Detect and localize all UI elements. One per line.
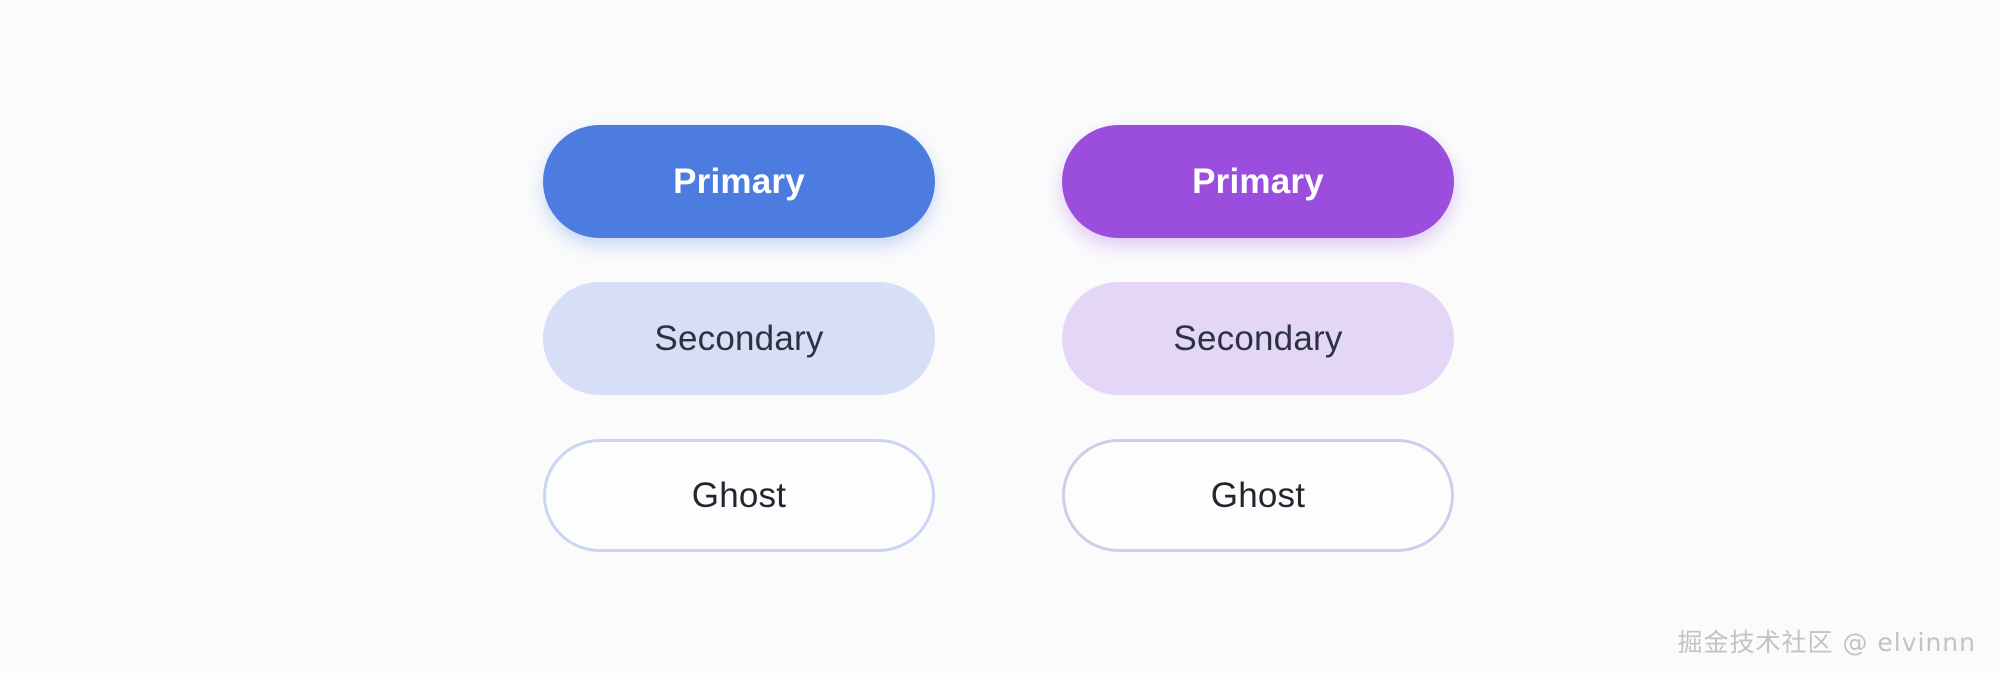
blue-ghost-button-label: Ghost (692, 478, 786, 513)
button-showcase-canvas: Primary Secondary Ghost Primary Secondar… (0, 0, 2000, 673)
purple-secondary-button-label: Secondary (1173, 321, 1342, 356)
button-group-purple: Primary Secondary Ghost (1062, 125, 1454, 552)
blue-primary-button-label: Primary (673, 164, 805, 199)
blue-ghost-button[interactable]: Ghost (543, 439, 935, 552)
purple-ghost-button-label: Ghost (1211, 478, 1305, 513)
blue-secondary-button[interactable]: Secondary (543, 282, 935, 395)
blue-primary-button[interactable]: Primary (543, 125, 935, 238)
blue-secondary-button-label: Secondary (654, 321, 823, 356)
watermark: 掘金技术社区 @ elvinnn (1678, 623, 1977, 659)
purple-ghost-button[interactable]: Ghost (1062, 439, 1454, 552)
purple-secondary-button[interactable]: Secondary (1062, 282, 1454, 395)
purple-primary-button-label: Primary (1192, 164, 1324, 199)
button-group-blue: Primary Secondary Ghost (543, 125, 935, 552)
button-groups-container: Primary Secondary Ghost Primary Secondar… (543, 125, 1454, 552)
purple-primary-button[interactable]: Primary (1062, 125, 1454, 238)
